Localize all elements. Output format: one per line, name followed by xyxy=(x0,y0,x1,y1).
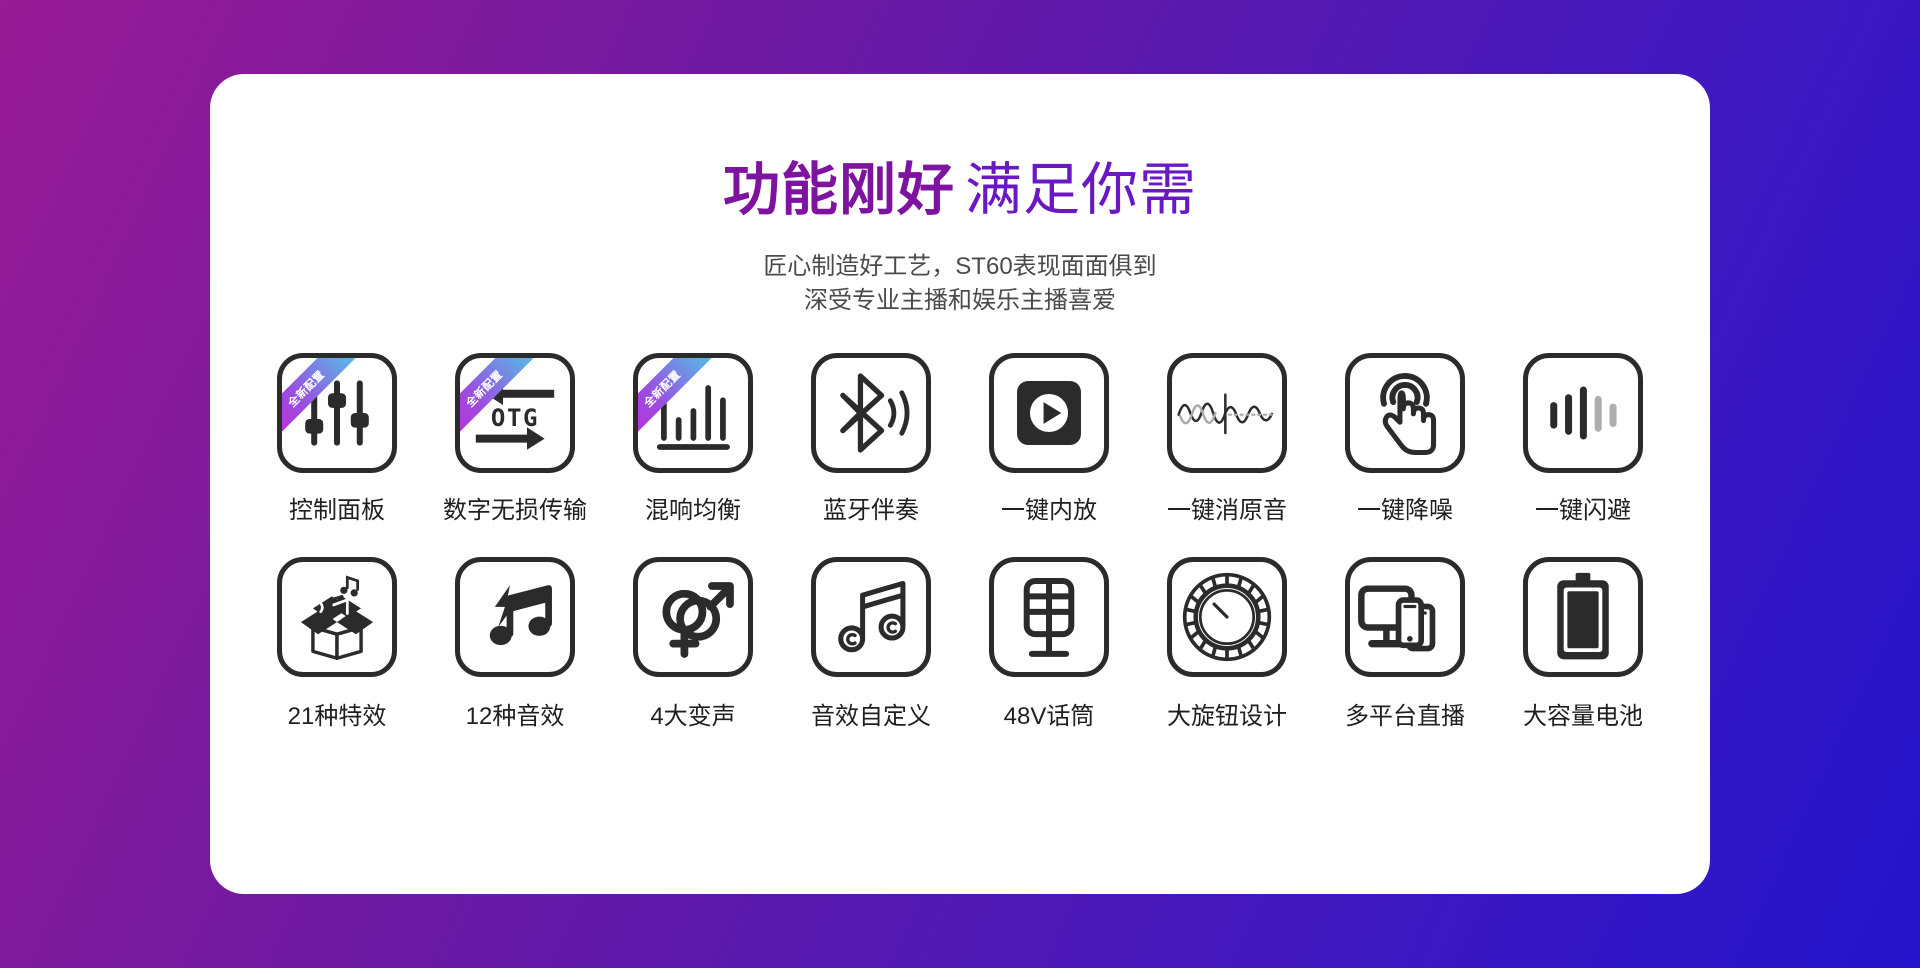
feature-grid: 全新配置 控制面板 OTG 全新配置 数字无损传输 xyxy=(250,353,1670,731)
feature-row-2: 21种特效 12种音效 xyxy=(250,557,1670,731)
equalizer-bars-icon xyxy=(652,372,734,454)
headline-light: 满足你需 xyxy=(965,158,1197,222)
feature-icon-tile[interactable] xyxy=(455,557,575,677)
play-button-icon xyxy=(1015,379,1083,447)
feature-label: 控制面板 xyxy=(289,490,385,525)
feature-label: 一键消原音 xyxy=(1167,490,1287,525)
svg-text:OTG: OTG xyxy=(491,404,539,432)
subtitle-line-1: 匠心制造好工艺，ST60表现面面俱到 xyxy=(763,250,1156,285)
feature-item-control-panel[interactable]: 全新配置 控制面板 xyxy=(250,353,424,525)
otg-icon: OTG xyxy=(471,374,559,452)
feature-item-rotary-knob[interactable]: 大旋钮设计 xyxy=(1140,557,1314,731)
rotary-knob-icon xyxy=(1181,571,1273,663)
feature-icon-tile[interactable] xyxy=(633,557,753,677)
feature-item-remove-vocal[interactable]: 一键消原音 xyxy=(1140,353,1314,525)
feature-icon-tile[interactable]: 全新配置 xyxy=(277,353,397,473)
headline-strong: 功能刚好 xyxy=(723,158,955,222)
feature-icon-tile[interactable] xyxy=(989,353,1109,473)
feature-label: 12种音效 xyxy=(466,696,565,731)
audio-ducking-icon xyxy=(1544,374,1622,452)
gift-box-music-icon xyxy=(294,574,380,660)
feature-item-voice-change[interactable]: 4大变声 xyxy=(606,557,780,731)
feature-label: 4大变声 xyxy=(650,696,735,731)
feature-item-sound-effects[interactable]: 21种特效 xyxy=(250,557,424,731)
feature-item-noise-reduction[interactable]: 一键降噪 xyxy=(1318,353,1492,525)
feature-label: 21种特效 xyxy=(288,696,387,731)
feature-item-otg[interactable]: OTG 全新配置 数字无损传输 xyxy=(428,353,602,525)
feature-label: 一键降噪 xyxy=(1357,490,1453,525)
feature-label: 一键内放 xyxy=(1001,490,1097,525)
feature-label: 数字无损传输 xyxy=(443,490,587,525)
feature-icon-tile[interactable] xyxy=(1167,557,1287,677)
feature-icon-tile[interactable] xyxy=(989,557,1109,677)
tap-hand-icon xyxy=(1363,370,1447,456)
feature-icon-tile[interactable] xyxy=(1345,353,1465,473)
feature-icon-tile[interactable] xyxy=(811,353,931,473)
music-note-outline-icon xyxy=(829,575,913,659)
feature-label: 音效自定义 xyxy=(811,696,931,731)
feature-label: 大容量电池 xyxy=(1523,696,1643,731)
feature-item-phantom-power-mic[interactable]: 48V话筒 xyxy=(962,557,1136,731)
feature-item-multi-platform-live[interactable]: 多平台直播 xyxy=(1318,557,1492,731)
page-title: 功能刚好满足你需 xyxy=(723,158,1197,224)
feature-label: 蓝牙伴奏 xyxy=(823,490,919,525)
subtitle-line-2: 深受专业主播和娱乐主播喜爱 xyxy=(763,284,1156,319)
microphone-icon xyxy=(1013,574,1085,660)
feature-icon-tile[interactable] xyxy=(811,557,931,677)
feature-icon-tile[interactable]: 全新配置 xyxy=(633,353,753,473)
feature-icon-tile[interactable] xyxy=(1167,353,1287,473)
multi-device-icon xyxy=(1358,579,1452,655)
feature-item-large-battery[interactable]: 大容量电池 xyxy=(1496,557,1670,731)
waveform-icon xyxy=(1177,383,1277,443)
feature-row-1: 全新配置 控制面板 OTG 全新配置 数字无损传输 xyxy=(250,353,1670,525)
sliders-icon xyxy=(294,370,380,456)
feature-icon-tile[interactable] xyxy=(277,557,397,677)
feature-label: 48V话筒 xyxy=(1004,696,1095,731)
feature-icon-tile[interactable] xyxy=(1345,557,1465,677)
feature-label: 混响均衡 xyxy=(645,490,741,525)
feature-item-custom-audio[interactable]: 音效自定义 xyxy=(784,557,958,731)
feature-icon-tile[interactable] xyxy=(1523,353,1643,473)
page-subtitle: 匠心制造好工艺，ST60表现面面俱到 深受专业主播和娱乐主播喜爱 xyxy=(763,250,1156,320)
feature-item-reverb-eq[interactable]: 全新配置 混响均衡 xyxy=(606,353,780,525)
bluetooth-icon xyxy=(827,369,915,457)
battery-icon xyxy=(1553,571,1613,663)
feature-icon-tile[interactable] xyxy=(1523,557,1643,677)
music-note-bolt-icon xyxy=(473,575,557,659)
feature-item-monitor-play[interactable]: 一键内放 xyxy=(962,353,1136,525)
feature-item-bluetooth[interactable]: 蓝牙伴奏 xyxy=(784,353,958,525)
feature-item-audio-effects[interactable]: 12种音效 xyxy=(428,557,602,731)
feature-label: 大旋钮设计 xyxy=(1167,696,1287,731)
feature-label: 多平台直播 xyxy=(1345,696,1465,731)
feature-item-ducking[interactable]: 一键闪避 xyxy=(1496,353,1670,525)
feature-label: 一键闪避 xyxy=(1535,490,1631,525)
feature-card: 功能刚好满足你需 匠心制造好工艺，ST60表现面面俱到 深受专业主播和娱乐主播喜… xyxy=(210,74,1710,894)
feature-icon-tile[interactable]: OTG 全新配置 xyxy=(455,353,575,473)
gender-symbols-icon xyxy=(650,574,736,660)
